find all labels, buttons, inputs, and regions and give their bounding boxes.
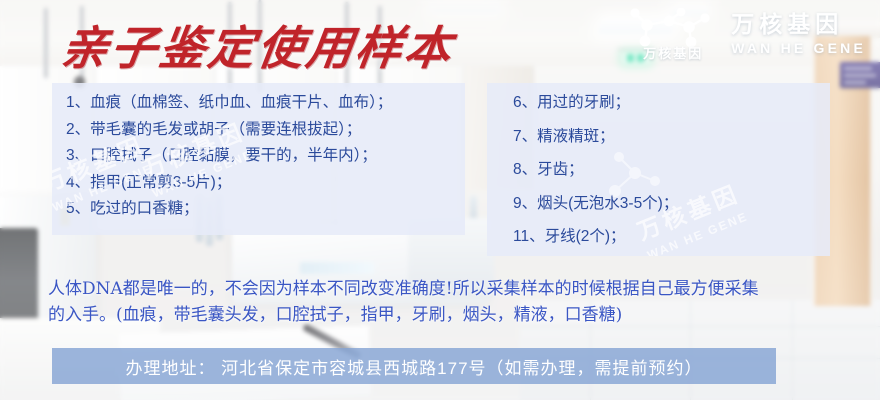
sample-list-left: 1、血痕（血棉签、纸巾血、血痕干片、血布）； 2、带毛囊的毛发或胡子（需要连根拔… [52, 83, 465, 217]
description-paragraph: 人体DNA都是唯一的，不会因为样本不同改变准确度!所以采集样本的时候根据自己最方… [48, 276, 848, 329]
brand-name-cn: 万核基因 [731, 13, 866, 36]
brand-mark-label: 万核基因 [629, 43, 717, 62]
list-item: 1、血痕（血棉签、纸巾血、血痕干片、血布）； [66, 95, 465, 111]
list-item: 4、指甲(正常剪3-5片)； [66, 175, 465, 191]
paragraph-line-2: 的入手。(血痕，带毛囊头发，口腔拭子，指甲，牙刷，烟头，精液，口香糖) [48, 302, 848, 328]
watermark-dna-icon [597, 139, 707, 249]
poster-canvas: 万核基因 万核基因 WAN HE GENE 亲子鉴定使用样本 万核基因 WAN … [0, 0, 880, 400]
sample-list-panel-right: 万核基因 WAN HE GENE 6、用过的牙刷； 7、精液精斑； 8、牙齿； … [487, 83, 830, 256]
dna-molecule-icon: 万核基因 [625, 8, 717, 62]
brand-logo: 万核基因 万核基因 WAN HE GENE [625, 8, 866, 62]
address-text: 办理地址： 河北省保定市容城县西城路177号（如需办理，需提前预约） [125, 354, 702, 379]
page-title: 亲子鉴定使用样本 [57, 12, 458, 78]
list-item: 3、口腔拭子（口腔黏膜，要干的，半年内）； [66, 148, 465, 164]
address-banner: 办理地址： 河北省保定市容城县西城路177号（如需办理，需提前预约） [52, 348, 776, 384]
paragraph-line-1: 人体DNA都是唯一的，不会因为样本不同改变准确度!所以采集样本的时候根据自己最方… [48, 276, 848, 302]
brand-wordmark: 万核基因 WAN HE GENE [731, 13, 866, 57]
brand-name-en: WAN HE GENE [731, 41, 866, 55]
sample-list-panel-left: 万核基因 WAN HE GENE 万核基因 WAN HE GENE 1、血痕（血… [52, 83, 465, 235]
list-item: 6、用过的牙刷； [513, 95, 830, 111]
list-item: 5、吃过的口香糖； [66, 201, 465, 217]
list-item: 2、带毛囊的毛发或胡子（需要连根拔起）； [66, 122, 465, 138]
